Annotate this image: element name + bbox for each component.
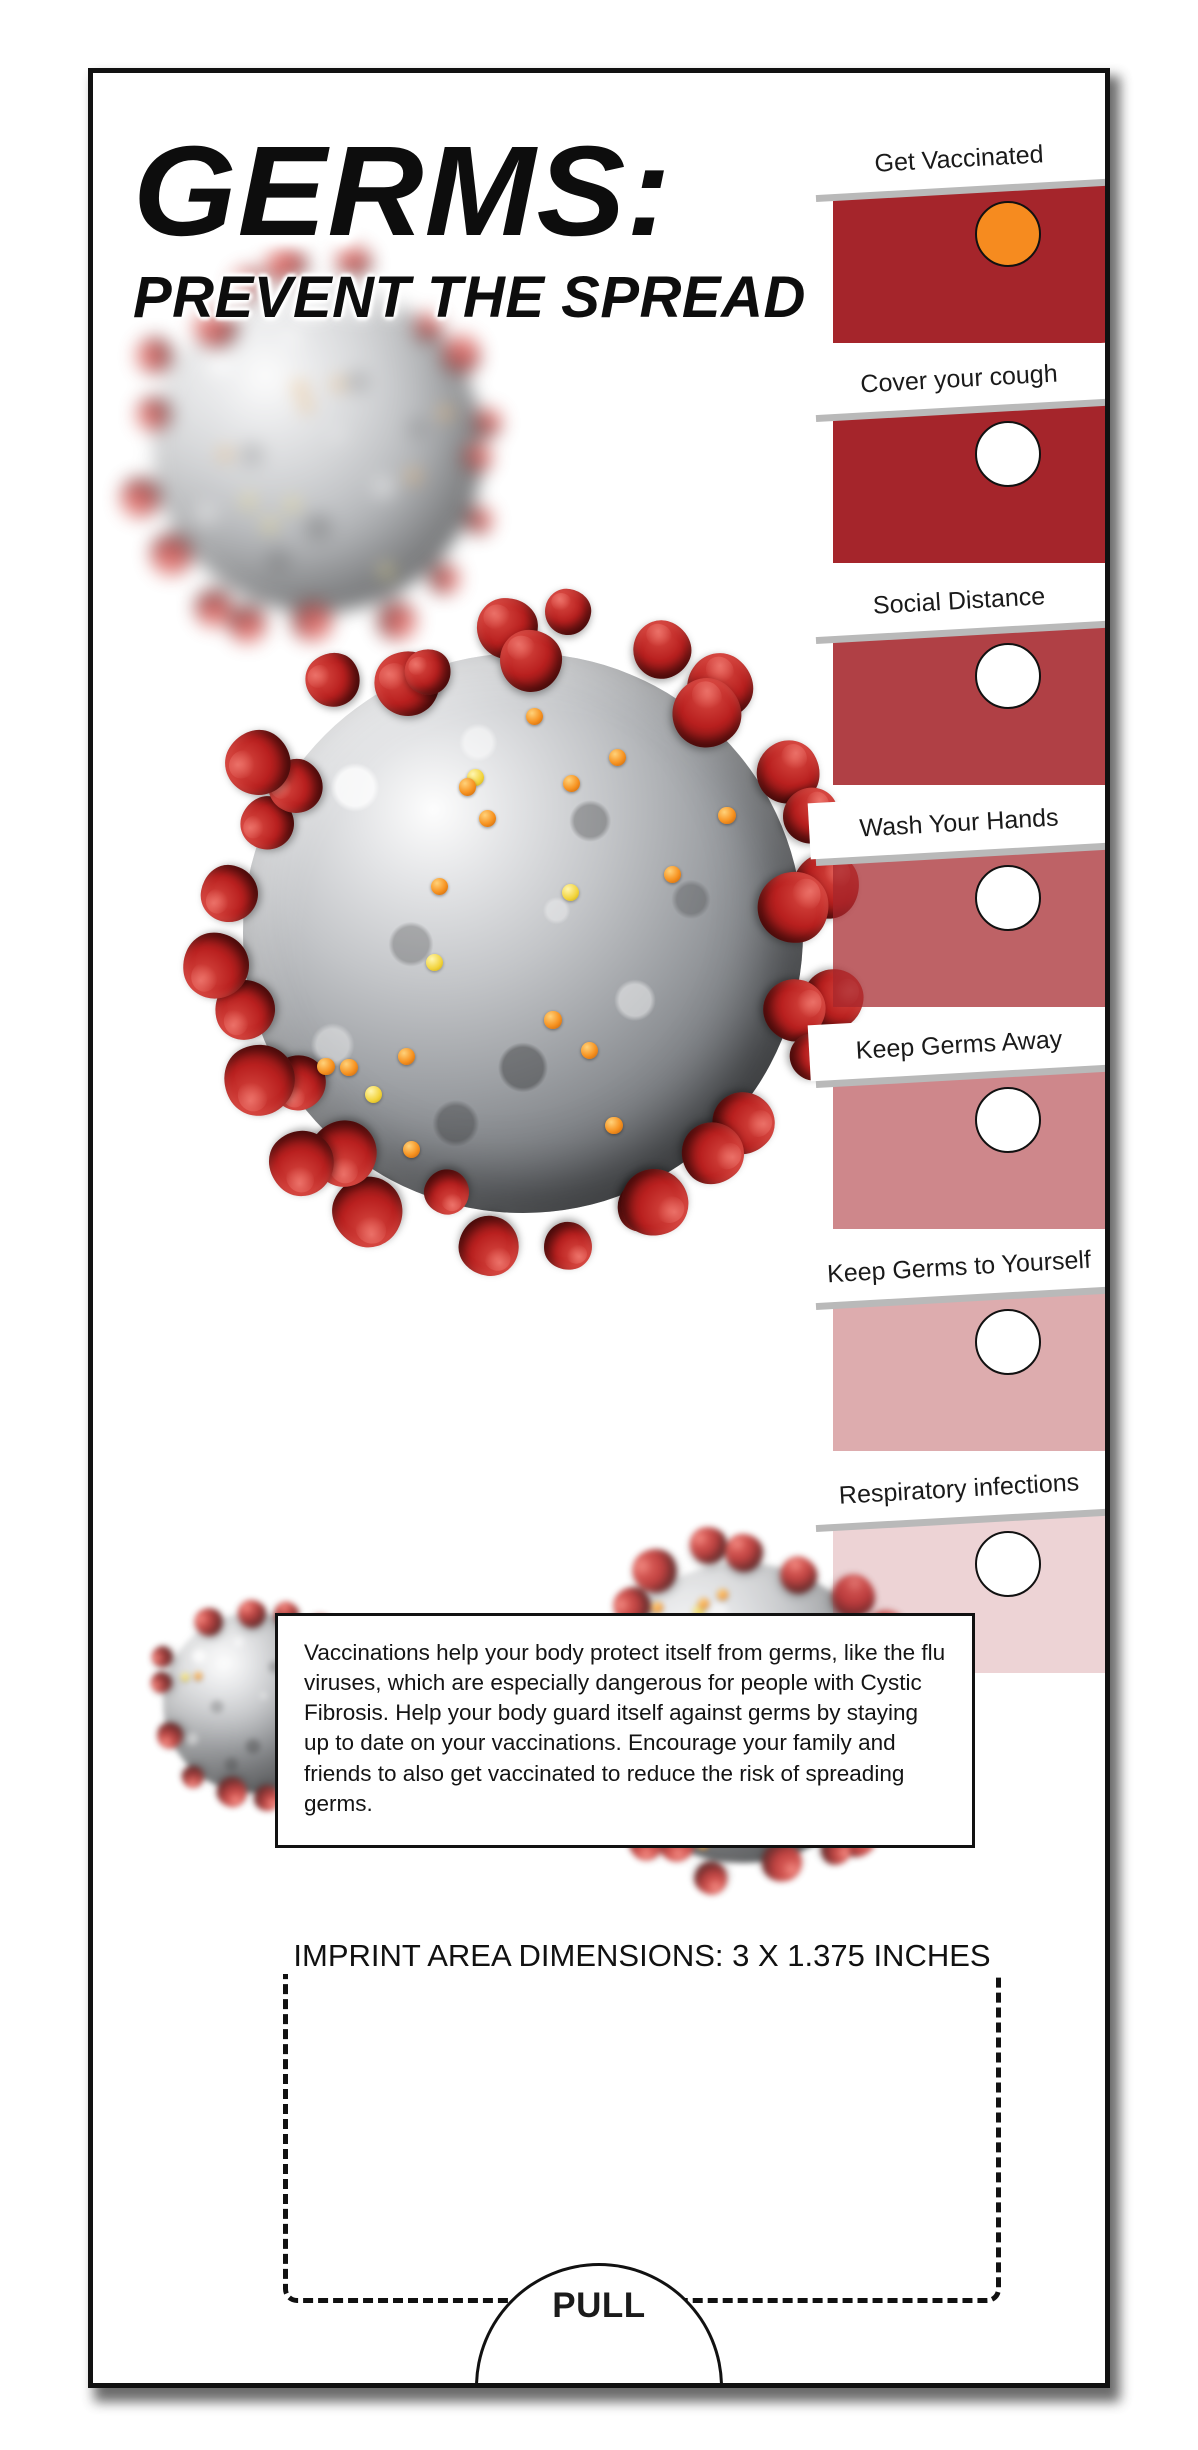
info-textbox: Vaccinations help your body protect itse… (275, 1613, 975, 1848)
virus-spike (691, 1858, 730, 1897)
page-title: GERMS: (133, 131, 882, 254)
tab-indicator-dot[interactable] (975, 1309, 1041, 1375)
tab-indicator-dot[interactable] (975, 201, 1041, 267)
virus-surface-protein (301, 400, 311, 410)
pull-tab-label: PULL (552, 2286, 645, 2326)
virus-spike (541, 1218, 595, 1272)
tab-indicator-dot[interactable] (975, 643, 1041, 709)
virus-surface-protein (398, 1048, 415, 1065)
virus-spike (542, 586, 593, 637)
info-paragraph: Vaccinations help your body protect itse… (304, 1638, 946, 1819)
tab-label-text: Keep Germs Away (855, 1025, 1063, 1065)
poster-canvas: GERMS: PREVENT THE SPREAD Get Vaccinated… (0, 0, 1198, 2450)
virus-surface-protein (581, 1042, 598, 1059)
imprint-area: IMPRINT AREA DIMENSIONS: 3 X 1.375 INCHE… (283, 1953, 1001, 2303)
virus-surface-protein (317, 1058, 334, 1075)
virus-spike (687, 1523, 731, 1567)
virus-surface-protein (544, 1011, 561, 1028)
tab-indicator-dot[interactable] (975, 865, 1041, 931)
virus-surface-protein (605, 1117, 622, 1134)
virus-surface-protein (381, 566, 391, 576)
virus-surface-protein (563, 775, 580, 792)
virus-spike (456, 1212, 522, 1278)
virus-surface-protein (718, 807, 735, 824)
virus-surface-protein (408, 471, 418, 481)
virus-surface-protein (459, 778, 476, 795)
virus-surface-protein (651, 1602, 662, 1613)
tab-label-text: Respiratory infections (838, 1468, 1080, 1510)
virus-surface-protein (295, 382, 305, 392)
virus-spike (372, 596, 422, 646)
tab-label-text: Wash Your Hands (859, 803, 1060, 843)
tab-label-text: Get Vaccinated (874, 140, 1044, 178)
tab-label-text: Cover your cough (860, 359, 1059, 399)
tab-indicator-dot[interactable] (975, 1531, 1041, 1597)
virus-surface-protein (426, 954, 443, 971)
germ-prevention-card: GERMS: PREVENT THE SPREAD Get Vaccinated… (88, 68, 1110, 2388)
virus-surface-protein (264, 520, 274, 530)
pull-tab-base-cover (479, 2375, 719, 2383)
virus-surface-protein (609, 749, 626, 766)
page-subtitle: PREVENT THE SPREAD (133, 264, 853, 331)
virus-surface-protein (287, 499, 297, 509)
virus-surface-protein (440, 408, 450, 418)
virus-surface-protein (340, 1059, 357, 1076)
title-block: GERMS: PREVENT THE SPREAD (133, 131, 853, 331)
tab-indicator-dot[interactable] (975, 421, 1041, 487)
tab-label-text: Keep Germs to Yourself (826, 1245, 1091, 1289)
virus-surface-protein (194, 1672, 202, 1680)
tab-indicator-dot[interactable] (975, 1087, 1041, 1153)
virus-surface-protein (243, 496, 253, 506)
imprint-area-label: IMPRINT AREA DIMENSIONS: 3 X 1.375 INCHE… (279, 1938, 1004, 1974)
tab-label-text: Social Distance (872, 582, 1046, 621)
